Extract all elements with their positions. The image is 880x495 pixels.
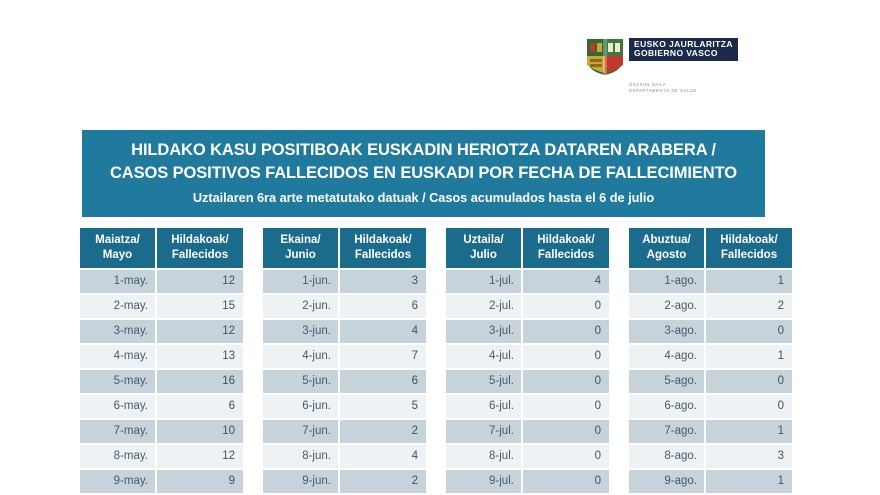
table-row: 1-may.12 bbox=[80, 270, 243, 293]
cell-date: 8-jun. bbox=[263, 445, 338, 468]
table-row: 4-jul.0 bbox=[446, 345, 609, 368]
column-header-deaths: Hildakoak/Fallecidos bbox=[706, 228, 792, 268]
cell-deaths: 0 bbox=[523, 445, 609, 468]
column-header-deaths-line1: Hildakoak/ bbox=[712, 233, 786, 248]
cell-date: 1-jun. bbox=[263, 270, 338, 293]
cell-date: 6-ago. bbox=[629, 395, 704, 418]
column-header-deaths-line1: Hildakoak/ bbox=[529, 233, 603, 248]
month-tables-container: Maiatza/MayoHildakoak/Fallecidos1-may.12… bbox=[80, 228, 792, 493]
cell-date: 5-jun. bbox=[263, 370, 338, 393]
cell-date: 3-ago. bbox=[629, 320, 704, 343]
basque-coat-of-arms-icon bbox=[583, 35, 627, 77]
table-row: 5-may.16 bbox=[80, 370, 243, 393]
cell-date: 2-jul. bbox=[446, 295, 521, 318]
table-row: 1-jun.3 bbox=[263, 270, 426, 293]
page-title-eu: HILDAKO KASU POSITIBOAK EUSKADIN HERIOTZ… bbox=[92, 139, 755, 162]
column-header-deaths-line2: Fallecidos bbox=[712, 248, 786, 263]
government-logo: EUSKO JAURLARITZA GOBIERNO VASCO OSASUN … bbox=[583, 35, 733, 95]
logo-subtitle-es: DEPARTAMENTO DE SALUD bbox=[629, 88, 733, 94]
cell-date: 9-ago. bbox=[629, 470, 704, 493]
cell-date: 4-ago. bbox=[629, 345, 704, 368]
month-table: Ekaina/JunioHildakoak/Fallecidos1-jun.32… bbox=[263, 228, 426, 493]
cell-deaths: 4 bbox=[340, 320, 426, 343]
table-row: 9-may.9 bbox=[80, 470, 243, 493]
cell-date: 1-jul. bbox=[446, 270, 521, 293]
cell-date: 8-may. bbox=[80, 445, 155, 468]
table-row: 4-ago.1 bbox=[629, 345, 792, 368]
table-row: 6-ago.0 bbox=[629, 395, 792, 418]
cell-date: 5-jul. bbox=[446, 370, 521, 393]
table-row: 3-jul.0 bbox=[446, 320, 609, 343]
column-header-date-line1: Ekaina/ bbox=[269, 233, 332, 248]
table-row: 7-ago.1 bbox=[629, 420, 792, 443]
table-row: 4-jun.7 bbox=[263, 345, 426, 368]
cell-date: 4-may. bbox=[80, 345, 155, 368]
cell-deaths: 5 bbox=[340, 395, 426, 418]
column-header-deaths-line2: Fallecidos bbox=[346, 248, 420, 263]
table-row: 7-may.10 bbox=[80, 420, 243, 443]
table-row: 8-may.12 bbox=[80, 445, 243, 468]
cell-deaths: 0 bbox=[706, 370, 792, 393]
table-row: 6-jun.5 bbox=[263, 395, 426, 418]
table-row: 2-jun.6 bbox=[263, 295, 426, 318]
cell-date: 1-may. bbox=[80, 270, 155, 293]
cell-deaths: 1 bbox=[706, 345, 792, 368]
cell-deaths: 0 bbox=[706, 395, 792, 418]
title-banner: HILDAKO KASU POSITIBOAK EUSKADIN HERIOTZ… bbox=[82, 130, 765, 217]
cell-deaths: 3 bbox=[340, 270, 426, 293]
table-row: 6-jul.0 bbox=[446, 395, 609, 418]
cell-date: 2-jun. bbox=[263, 295, 338, 318]
cell-date: 2-ago. bbox=[629, 295, 704, 318]
cell-date: 3-jun. bbox=[263, 320, 338, 343]
table-row: 8-jun.4 bbox=[263, 445, 426, 468]
cell-deaths: 6 bbox=[340, 370, 426, 393]
table-row: 9-jun.2 bbox=[263, 470, 426, 493]
cell-date: 8-jul. bbox=[446, 445, 521, 468]
cell-date: 5-ago. bbox=[629, 370, 704, 393]
table-header-row: Maiatza/MayoHildakoak/Fallecidos bbox=[80, 228, 243, 268]
cell-deaths: 4 bbox=[523, 270, 609, 293]
page-subtitle: Uztailaren 6ra arte metatutako datuak / … bbox=[92, 188, 755, 207]
column-header-deaths: Hildakoak/Fallecidos bbox=[340, 228, 426, 268]
cell-deaths: 1 bbox=[706, 420, 792, 443]
column-header-date: Maiatza/Mayo bbox=[80, 228, 155, 268]
cell-deaths: 0 bbox=[523, 320, 609, 343]
table-row: 7-jun.2 bbox=[263, 420, 426, 443]
column-header-deaths-line2: Fallecidos bbox=[163, 248, 237, 263]
column-header-date-line1: Maiatza/ bbox=[86, 233, 149, 248]
cell-date: 4-jun. bbox=[263, 345, 338, 368]
table-row: 8-ago.3 bbox=[629, 445, 792, 468]
logo-subtitle: OSASUN SAILA DEPARTAMENTO DE SALUD bbox=[629, 82, 733, 95]
cell-deaths: 1 bbox=[706, 270, 792, 293]
cell-date: 6-may. bbox=[80, 395, 155, 418]
column-header-deaths-line1: Hildakoak/ bbox=[163, 233, 237, 248]
cell-date: 9-may. bbox=[80, 470, 155, 493]
column-header-date-line2: Agosto bbox=[635, 248, 698, 263]
table-row: 5-ago.0 bbox=[629, 370, 792, 393]
column-header-deaths-line1: Hildakoak/ bbox=[346, 233, 420, 248]
table-row: 7-jul.0 bbox=[446, 420, 609, 443]
column-header-date: Abuztua/Agosto bbox=[629, 228, 704, 268]
table-row: 9-jul.0 bbox=[446, 470, 609, 493]
logo-wordmark: EUSKO JAURLARITZA GOBIERNO VASCO bbox=[629, 38, 738, 61]
cell-deaths: 6 bbox=[340, 295, 426, 318]
table-row: 8-jul.0 bbox=[446, 445, 609, 468]
cell-date: 8-ago. bbox=[629, 445, 704, 468]
month-table: Abuztua/AgostoHildakoak/Fallecidos1-ago.… bbox=[629, 228, 792, 493]
cell-deaths: 9 bbox=[157, 470, 243, 493]
cell-deaths: 2 bbox=[340, 470, 426, 493]
cell-deaths: 2 bbox=[340, 420, 426, 443]
cell-date: 6-jul. bbox=[446, 395, 521, 418]
table-header-row: Abuztua/AgostoHildakoak/Fallecidos bbox=[629, 228, 792, 268]
month-table: Uztaila/JulioHildakoak/Fallecidos1-jul.4… bbox=[446, 228, 609, 493]
cell-date: 9-jun. bbox=[263, 470, 338, 493]
table-row: 3-may.12 bbox=[80, 320, 243, 343]
cell-date: 7-may. bbox=[80, 420, 155, 443]
cell-deaths: 0 bbox=[523, 395, 609, 418]
cell-deaths: 10 bbox=[157, 420, 243, 443]
cell-deaths: 3 bbox=[706, 445, 792, 468]
column-header-date-line2: Julio bbox=[452, 248, 515, 263]
logo-wordmark-es: GOBIERNO VASCO bbox=[634, 49, 733, 58]
cell-deaths: 4 bbox=[340, 445, 426, 468]
cell-date: 4-jul. bbox=[446, 345, 521, 368]
column-header-date-line2: Junio bbox=[269, 248, 332, 263]
cell-deaths: 0 bbox=[523, 370, 609, 393]
column-header-date: Uztaila/Julio bbox=[446, 228, 521, 268]
table-header-row: Uztaila/JulioHildakoak/Fallecidos bbox=[446, 228, 609, 268]
cell-date: 5-may. bbox=[80, 370, 155, 393]
column-header-deaths: Hildakoak/Fallecidos bbox=[523, 228, 609, 268]
cell-date: 3-may. bbox=[80, 320, 155, 343]
cell-date: 7-jun. bbox=[263, 420, 338, 443]
cell-deaths: 0 bbox=[523, 470, 609, 493]
cell-deaths: 0 bbox=[523, 345, 609, 368]
cell-date: 2-may. bbox=[80, 295, 155, 318]
cell-deaths: 15 bbox=[157, 295, 243, 318]
cell-date: 1-ago. bbox=[629, 270, 704, 293]
column-header-date: Ekaina/Junio bbox=[263, 228, 338, 268]
cell-date: 7-ago. bbox=[629, 420, 704, 443]
table-row: 3-ago.0 bbox=[629, 320, 792, 343]
table-row: 5-jul.0 bbox=[446, 370, 609, 393]
table-row: 1-ago.1 bbox=[629, 270, 792, 293]
cell-deaths: 0 bbox=[706, 320, 792, 343]
cell-deaths: 13 bbox=[157, 345, 243, 368]
cell-deaths: 12 bbox=[157, 445, 243, 468]
cell-deaths: 0 bbox=[523, 420, 609, 443]
table-row: 2-ago.2 bbox=[629, 295, 792, 318]
table-row: 1-jul.4 bbox=[446, 270, 609, 293]
table-row: 5-jun.6 bbox=[263, 370, 426, 393]
table-row: 3-jun.4 bbox=[263, 320, 426, 343]
cell-deaths: 2 bbox=[706, 295, 792, 318]
table-header-row: Ekaina/JunioHildakoak/Fallecidos bbox=[263, 228, 426, 268]
column-header-date-line2: Mayo bbox=[86, 248, 149, 263]
cell-date: 3-jul. bbox=[446, 320, 521, 343]
month-table: Maiatza/MayoHildakoak/Fallecidos1-may.12… bbox=[80, 228, 243, 493]
table-row: 4-may.13 bbox=[80, 345, 243, 368]
cell-date: 6-jun. bbox=[263, 395, 338, 418]
column-header-deaths-line2: Fallecidos bbox=[529, 248, 603, 263]
cell-deaths: 1 bbox=[706, 470, 792, 493]
column-header-date-line1: Uztaila/ bbox=[452, 233, 515, 248]
cell-deaths: 12 bbox=[157, 320, 243, 343]
table-row: 2-jul.0 bbox=[446, 295, 609, 318]
column-header-deaths: Hildakoak/Fallecidos bbox=[157, 228, 243, 268]
cell-deaths: 0 bbox=[523, 295, 609, 318]
cell-deaths: 7 bbox=[340, 345, 426, 368]
cell-deaths: 12 bbox=[157, 270, 243, 293]
logo-top-row: EUSKO JAURLARITZA GOBIERNO VASCO bbox=[583, 35, 733, 77]
cell-deaths: 16 bbox=[157, 370, 243, 393]
column-header-date-line1: Abuztua/ bbox=[635, 233, 698, 248]
cell-date: 7-jul. bbox=[446, 420, 521, 443]
page-title-es: CASOS POSITIVOS FALLECIDOS EN EUSKADI PO… bbox=[92, 162, 755, 185]
table-row: 2-may.15 bbox=[80, 295, 243, 318]
table-row: 9-ago.1 bbox=[629, 470, 792, 493]
cell-date: 9-jul. bbox=[446, 470, 521, 493]
table-row: 6-may.6 bbox=[80, 395, 243, 418]
cell-deaths: 6 bbox=[157, 395, 243, 418]
